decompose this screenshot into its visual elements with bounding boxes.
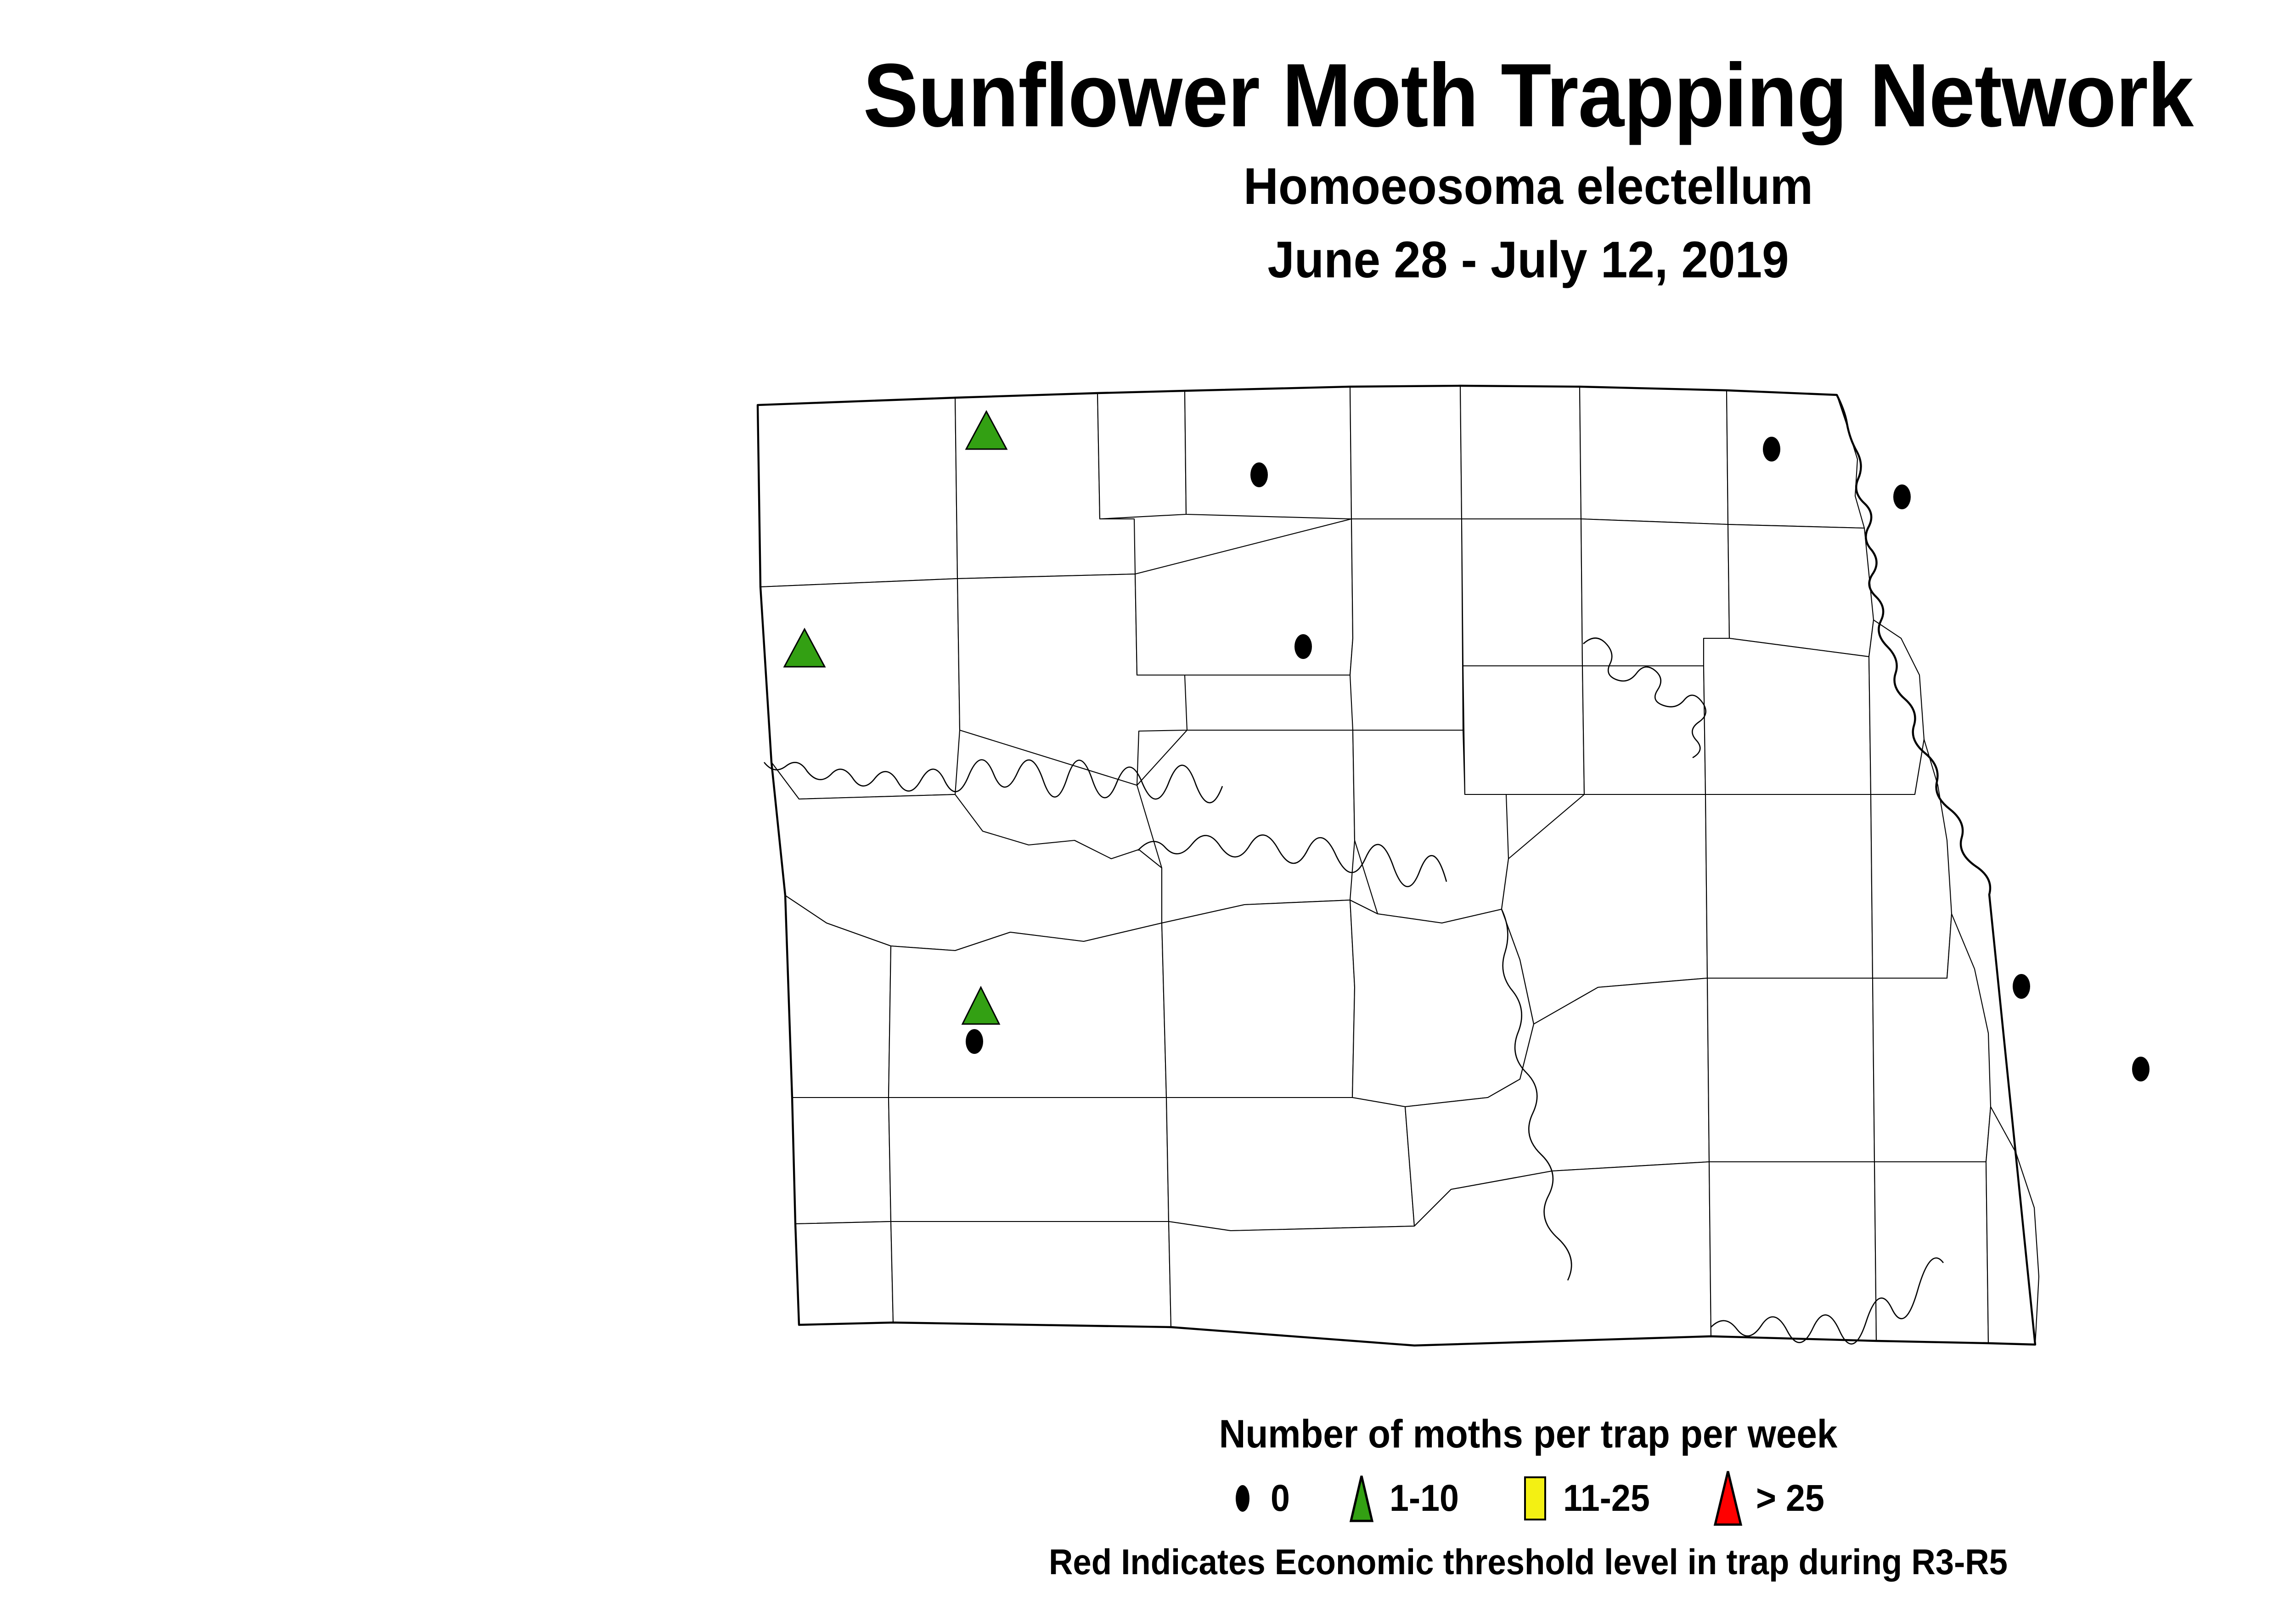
county-pierce — [1462, 519, 1582, 666]
square-marker-icon — [1519, 1473, 1551, 1524]
north-dakota-map — [634, 381, 2296, 1401]
county-cavalier — [1580, 387, 1728, 524]
legend-label-zero: 0 — [1271, 1480, 1290, 1517]
county-walsh — [1728, 524, 1874, 657]
trap-marker-dot-pembina[interactable] — [1893, 484, 1911, 509]
county-ward — [1135, 519, 1353, 675]
legend-item-mid: 11-25 — [1519, 1473, 1657, 1524]
county-mchenry — [1350, 519, 1463, 730]
county-morton — [1350, 900, 1534, 1107]
map-svg — [634, 381, 2296, 1401]
county-eddy-foster — [1704, 638, 1871, 794]
species-name: Homoeosoma electellum — [92, 161, 2296, 212]
triangle-marker-icon — [1345, 1473, 1378, 1524]
red-triangle-glyph — [1712, 1469, 1744, 1527]
figure-titles: Sunflower Moth Trapping Network Homoeoso… — [0, 51, 2296, 286]
county-layer — [758, 386, 2039, 1345]
county-billings — [889, 923, 1166, 1098]
county-kidder — [1705, 794, 1873, 978]
legend-label-mid: 11-25 — [1563, 1480, 1650, 1517]
triangle-marker-icon — [1712, 1473, 1744, 1524]
trap-marker-dot-richland[interactable] — [2132, 1057, 2150, 1081]
county-dunn — [1137, 730, 1355, 923]
legend-note: Red Indicates Economic threshold level i… — [107, 1544, 2296, 1580]
county-grant — [1166, 1098, 1414, 1231]
county-towner — [1460, 386, 1581, 519]
trap-marker-dot-stark[interactable] — [966, 1029, 983, 1054]
map-legend: Number of moths per trap per week 0 1-10 — [0, 1414, 2296, 1580]
county-rolette — [1350, 386, 1462, 519]
legend-item-high: > 25 — [1712, 1473, 1830, 1524]
county-logan — [1707, 978, 1874, 1162]
circle-marker-icon — [1227, 1473, 1259, 1524]
trap-marker-dot-ransom[interactable] — [2013, 974, 2030, 999]
legend-item-zero: 0 — [1227, 1473, 1292, 1524]
date-range: June 28 - July 12, 2019 — [92, 234, 2296, 286]
legend-items: 0 1-10 11-25 — [0, 1473, 2296, 1524]
legend-label-high: > 25 — [1756, 1480, 1824, 1517]
county-stark — [1162, 900, 1355, 1098]
county-slope — [792, 1098, 891, 1224]
county-hettinger — [889, 1098, 1169, 1222]
county-bottineau — [1185, 387, 1351, 519]
map-figure-page: Sunflower Moth Trapping Network Homoeoso… — [0, 0, 2296, 1610]
county-adams — [891, 1222, 1171, 1327]
trap-marker-dot-cavalier[interactable] — [1763, 437, 1780, 462]
county-divide — [758, 398, 957, 587]
county-williams — [760, 579, 960, 799]
legend-item-low: 1-10 — [1345, 1473, 1465, 1524]
legend-title: Number of moths per trap per week — [107, 1414, 2296, 1454]
legend-label-low: 1-10 — [1390, 1480, 1459, 1517]
trap-marker-dot-north-central[interactable] — [1250, 462, 1268, 487]
county-grand-forks — [1869, 620, 1924, 794]
page-title: Sunflower Moth Trapping Network — [122, 51, 2296, 141]
green-triangle-glyph — [1348, 1473, 1375, 1524]
county-sheridan — [1463, 666, 1584, 794]
county-bowman — [795, 1222, 893, 1325]
county-wells — [1582, 666, 1705, 794]
county-renville — [1097, 391, 1186, 519]
county-mcintosh — [1709, 1162, 1876, 1341]
county-dickey — [1874, 1162, 1988, 1343]
trap-marker-dot-sheridan[interactable] — [1294, 634, 1312, 659]
